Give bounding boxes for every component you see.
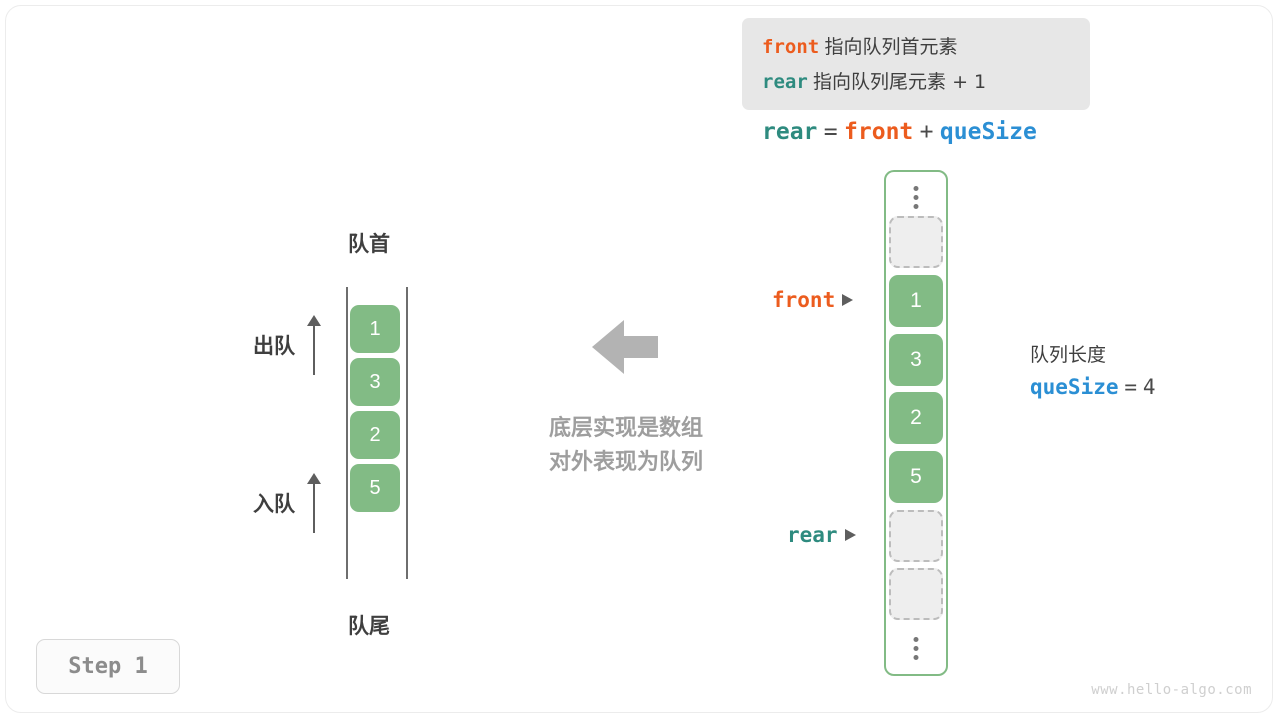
legend-line-front: front 指向队列首元素	[762, 30, 1090, 65]
arrow-right-icon-rear	[845, 529, 856, 541]
quesize-equals: =	[1124, 375, 1137, 399]
front-pointer-label: front	[772, 288, 853, 312]
queue-rail-left	[346, 287, 348, 579]
step-badge: Step 1	[36, 639, 180, 694]
center-caption-line1: 底层实现是数组	[526, 412, 726, 446]
rear-pointer-text: rear	[787, 523, 838, 547]
center-caption-line2: 对外表现为队列	[526, 446, 726, 480]
formula-rhs-quesize: queSize	[940, 119, 1037, 145]
enqueue-annotation: 入队	[253, 473, 321, 533]
vertical-dots-icon-bottom	[914, 637, 919, 660]
vertical-dots-icon-top	[914, 186, 919, 209]
array-cell-value-3: 2	[910, 406, 922, 430]
legend-term-rear: rear	[762, 71, 808, 93]
array-cell-value-4: 5	[910, 465, 922, 489]
quesize-title: 队列长度	[1030, 340, 1156, 367]
legend-term-front: front	[762, 36, 819, 58]
queue-cell-value-2: 2	[369, 424, 380, 447]
dequeue-annotation: 出队	[253, 315, 321, 375]
formula-rear-equals-front-plus-quesize: rear = front + queSize	[762, 118, 1037, 145]
center-caption: 底层实现是数组 对外表现为队列	[526, 412, 726, 480]
dequeue-label: 出队	[253, 330, 295, 360]
pointer-legend-box: front 指向队列首元素 rear 指向队列尾元素 + 1	[742, 18, 1090, 110]
queue-cell-value-3: 5	[369, 477, 380, 500]
arrow-left-icon-center	[592, 320, 658, 376]
quesize-name: queSize	[1030, 375, 1119, 399]
queue-cell-value-0: 1	[369, 318, 380, 341]
formula-rhs-front: front	[844, 119, 913, 145]
array-cell-1: 1	[889, 275, 943, 327]
array-cell-6	[889, 568, 943, 620]
queue-cell-1: 3	[350, 358, 400, 406]
formula-lhs: rear	[762, 119, 817, 145]
array-cell-value-2: 3	[910, 348, 922, 372]
legend-line-rear: rear 指向队列尾元素 + 1	[762, 65, 1090, 100]
quesize-value: 4	[1143, 375, 1156, 399]
queue-cell-2: 2	[350, 411, 400, 459]
array-cell-0	[889, 216, 943, 268]
queue-tail-label: 队尾	[348, 610, 390, 640]
rear-pointer-label: rear	[787, 523, 856, 547]
queue-head-label: 队首	[348, 228, 390, 258]
array-cell-5	[889, 510, 943, 562]
array-cell-2: 3	[889, 334, 943, 386]
queue-rail-right	[406, 287, 408, 579]
enqueue-label: 入队	[253, 488, 295, 518]
array-cell-4: 5	[889, 451, 943, 503]
quesize-annotation: 队列长度 queSize = 4	[1030, 340, 1156, 400]
quesize-expression: queSize = 4	[1030, 375, 1156, 400]
queue-cell-3: 5	[350, 464, 400, 512]
arrow-right-icon-front	[842, 294, 853, 306]
legend-text-rear: 指向队列尾元素 + 1	[813, 71, 986, 93]
queue-cell-value-1: 3	[369, 371, 380, 394]
arrow-up-icon-dequeue	[307, 315, 321, 375]
legend-text-front: 指向队列首元素	[824, 36, 957, 58]
formula-equals: =	[824, 119, 838, 145]
formula-plus: +	[920, 119, 934, 145]
front-pointer-text: front	[772, 288, 835, 312]
arrow-up-icon-enqueue	[307, 473, 321, 533]
queue-cell-0: 1	[350, 305, 400, 353]
array-cell-3: 2	[889, 392, 943, 444]
array-cell-value-1: 1	[910, 289, 922, 313]
diagram-canvas: front 指向队列首元素 rear 指向队列尾元素 + 1 rear = fr…	[0, 0, 1280, 720]
watermark: www.hello-algo.com	[1091, 682, 1252, 698]
array-container: 1 3 2 5	[884, 170, 948, 676]
